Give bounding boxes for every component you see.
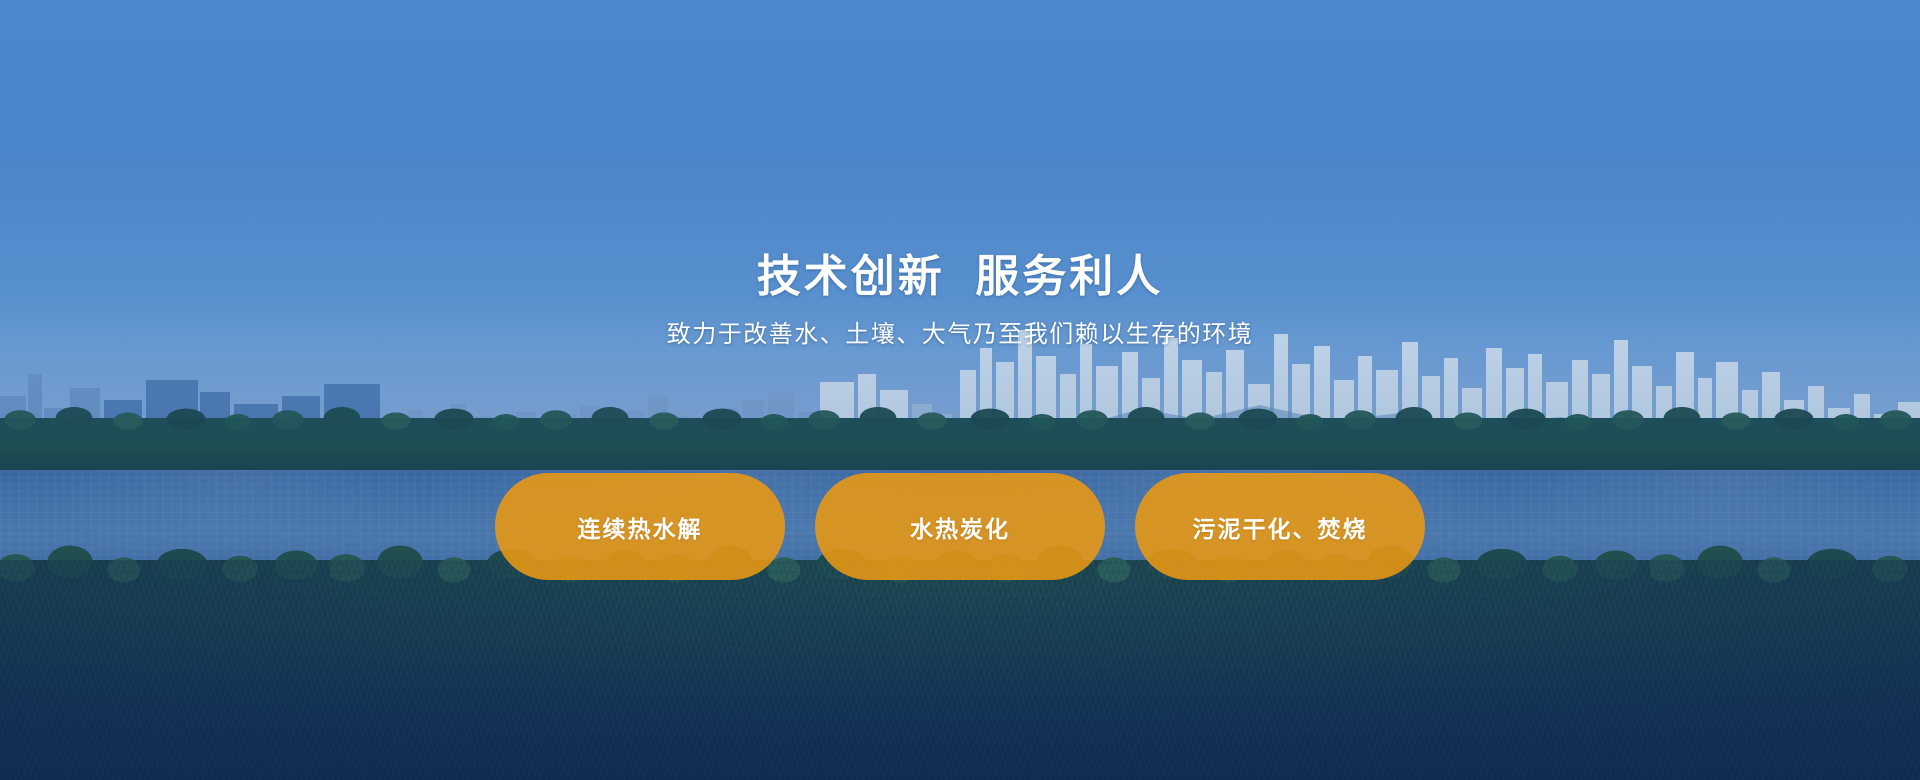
foreground-vegetation: [0, 560, 1920, 780]
hero-subtitle: 致力于改善水、土壤、大气乃至我们赖以生存的环境: [0, 318, 1920, 352]
hero-banner: 技术创新 服务利人 致力于改善水、土壤、大气乃至我们赖以生存的环境 连续热水解 …: [0, 0, 1920, 780]
hero-button-continuous-thermal-hydrolysis[interactable]: 连续热水解: [495, 473, 785, 580]
vegetation-shading: [0, 560, 1920, 780]
page-title: 技术创新 服务利人: [0, 250, 1920, 304]
hero-button-sludge-drying-incineration[interactable]: 污泥干化、焚烧: [1135, 473, 1425, 580]
hero-button-row: 连续热水解 水热炭化 污泥干化、焚烧: [0, 473, 1920, 580]
hero-copy: 技术创新 服务利人 致力于改善水、土壤、大气乃至我们赖以生存的环境: [0, 250, 1920, 351]
hero-button-hydrothermal-carbonization[interactable]: 水热炭化: [815, 473, 1105, 580]
